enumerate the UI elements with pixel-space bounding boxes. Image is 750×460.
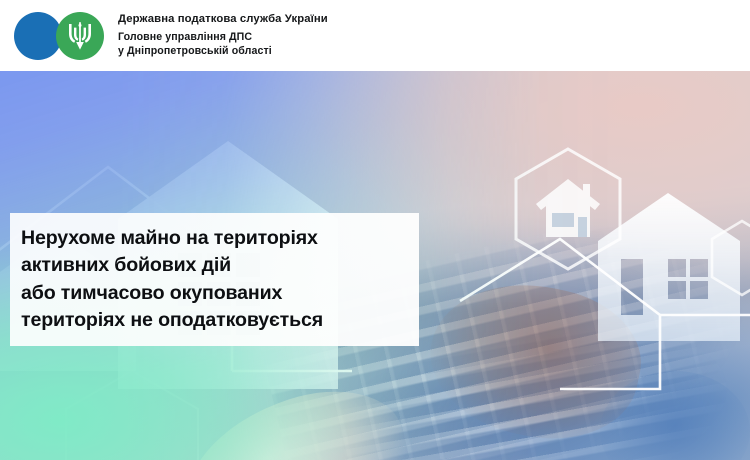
banner-page: Державна податкова служба України Головн… [0, 0, 750, 460]
headline-line-3: або тимчасово окупованих [21, 280, 419, 307]
headline-line-2: активних бойових дій [21, 252, 419, 279]
header-titles: Державна податкова служба України Головн… [118, 12, 328, 59]
department-line-1: Головне управління ДПС [118, 31, 328, 45]
organisation-title: Державна податкова служба України [118, 12, 328, 26]
headline-panel: Нерухоме майно на територіях активних бо… [10, 213, 419, 346]
agency-logo[interactable] [14, 10, 106, 62]
hero-banner: Нерухоме майно на територіях активних бо… [0, 71, 750, 460]
department-title: Головне управління ДПС у Дніпропетровськ… [118, 31, 328, 59]
headline-line-1: Нерухоме майно на територіях [21, 225, 419, 252]
blue-circle-icon [14, 12, 62, 60]
ukrainian-trident-icon [56, 12, 104, 60]
site-header: Державна податкова служба України Головн… [0, 0, 750, 71]
headline-line-4: територіях не оподатковується [21, 307, 419, 334]
department-line-2: у Дніпропетровській області [118, 45, 328, 59]
